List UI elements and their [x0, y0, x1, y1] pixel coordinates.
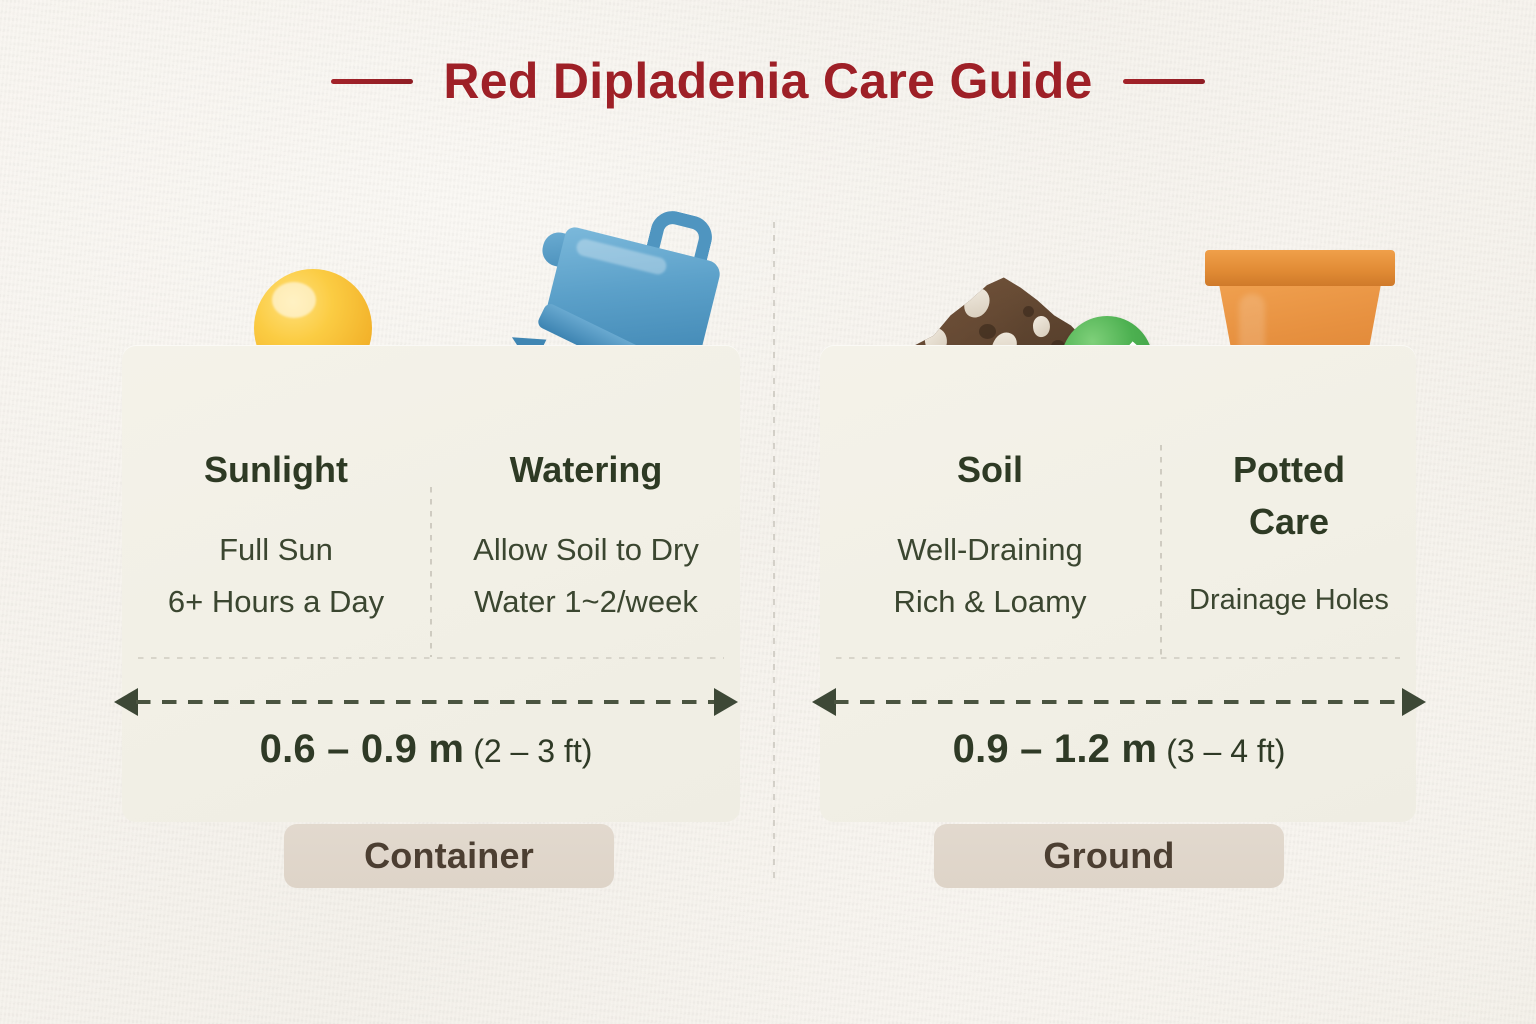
column-divider-container [430, 487, 432, 657]
column-text-sunlight-line2: 6+ Hours a Day [122, 581, 430, 623]
size-label-ground: 0.9 – 1.2 m(3 – 4 ft) [812, 727, 1426, 772]
size-measure-ground: 0.9 – 1.2 m(3 – 4 ft) [812, 685, 1426, 719]
column-text-soil-line1: Well-Draining [820, 529, 1160, 571]
card-horizontal-rule-ground [836, 657, 1400, 659]
column-heading-potted-care-line1: Potted [1162, 451, 1416, 490]
size-value-imperial: (2 – 3 ft) [473, 733, 592, 769]
title-rule-left-icon [331, 79, 413, 84]
panel-ground: Soil Well-Draining Rich & Loamy Potted C… [820, 345, 1416, 822]
infographic-stage: Red Dipladenia Care Guide [0, 0, 1536, 1024]
size-value-imperial: (3 – 4 ft) [1166, 733, 1285, 769]
arrow-head-right-icon [1402, 688, 1426, 716]
arrow-head-left-icon [812, 688, 836, 716]
title-row: Red Dipladenia Care Guide [0, 52, 1536, 110]
column-text-watering-line1: Allow Soil to Dry [432, 529, 740, 571]
badge-container: Container [284, 824, 614, 888]
badge-ground-label: Ground [1043, 835, 1174, 877]
badge-container-label: Container [364, 835, 534, 877]
column-heading-potted-care-line2: Care [1162, 503, 1416, 542]
card-horizontal-rule-container [138, 657, 724, 659]
size-value-metric: 0.6 – 0.9 m [260, 727, 465, 771]
size-label-container: 0.6 – 0.9 m(2 – 3 ft) [114, 727, 738, 772]
column-text-soil-line2: Rich & Loamy [820, 581, 1160, 623]
size-value-metric: 0.9 – 1.2 m [953, 727, 1158, 771]
column-heading-watering: Watering [432, 451, 740, 490]
arrow-dashed-line [834, 700, 1404, 704]
arrow-dashed-line [136, 700, 716, 704]
panel-container: Sunlight Full Sun 6+ Hours a Day Waterin… [122, 345, 740, 822]
arrow-head-left-icon [114, 688, 138, 716]
arrow-head-right-icon [714, 688, 738, 716]
badge-ground: Ground [934, 824, 1284, 888]
column-heading-soil: Soil [820, 451, 1160, 490]
column-text-watering-line2: Water 1~2/week [432, 581, 740, 623]
column-text-sunlight-line1: Full Sun [122, 529, 430, 571]
title-rule-right-icon [1123, 79, 1205, 84]
size-measure-container: 0.6 – 0.9 m(2 – 3 ft) [114, 685, 738, 719]
column-text-potted-care-line1: Drainage Holes [1150, 581, 1428, 620]
column-heading-sunlight: Sunlight [122, 451, 430, 490]
page-title: Red Dipladenia Care Guide [443, 52, 1092, 110]
panel-split-divider [773, 222, 775, 882]
